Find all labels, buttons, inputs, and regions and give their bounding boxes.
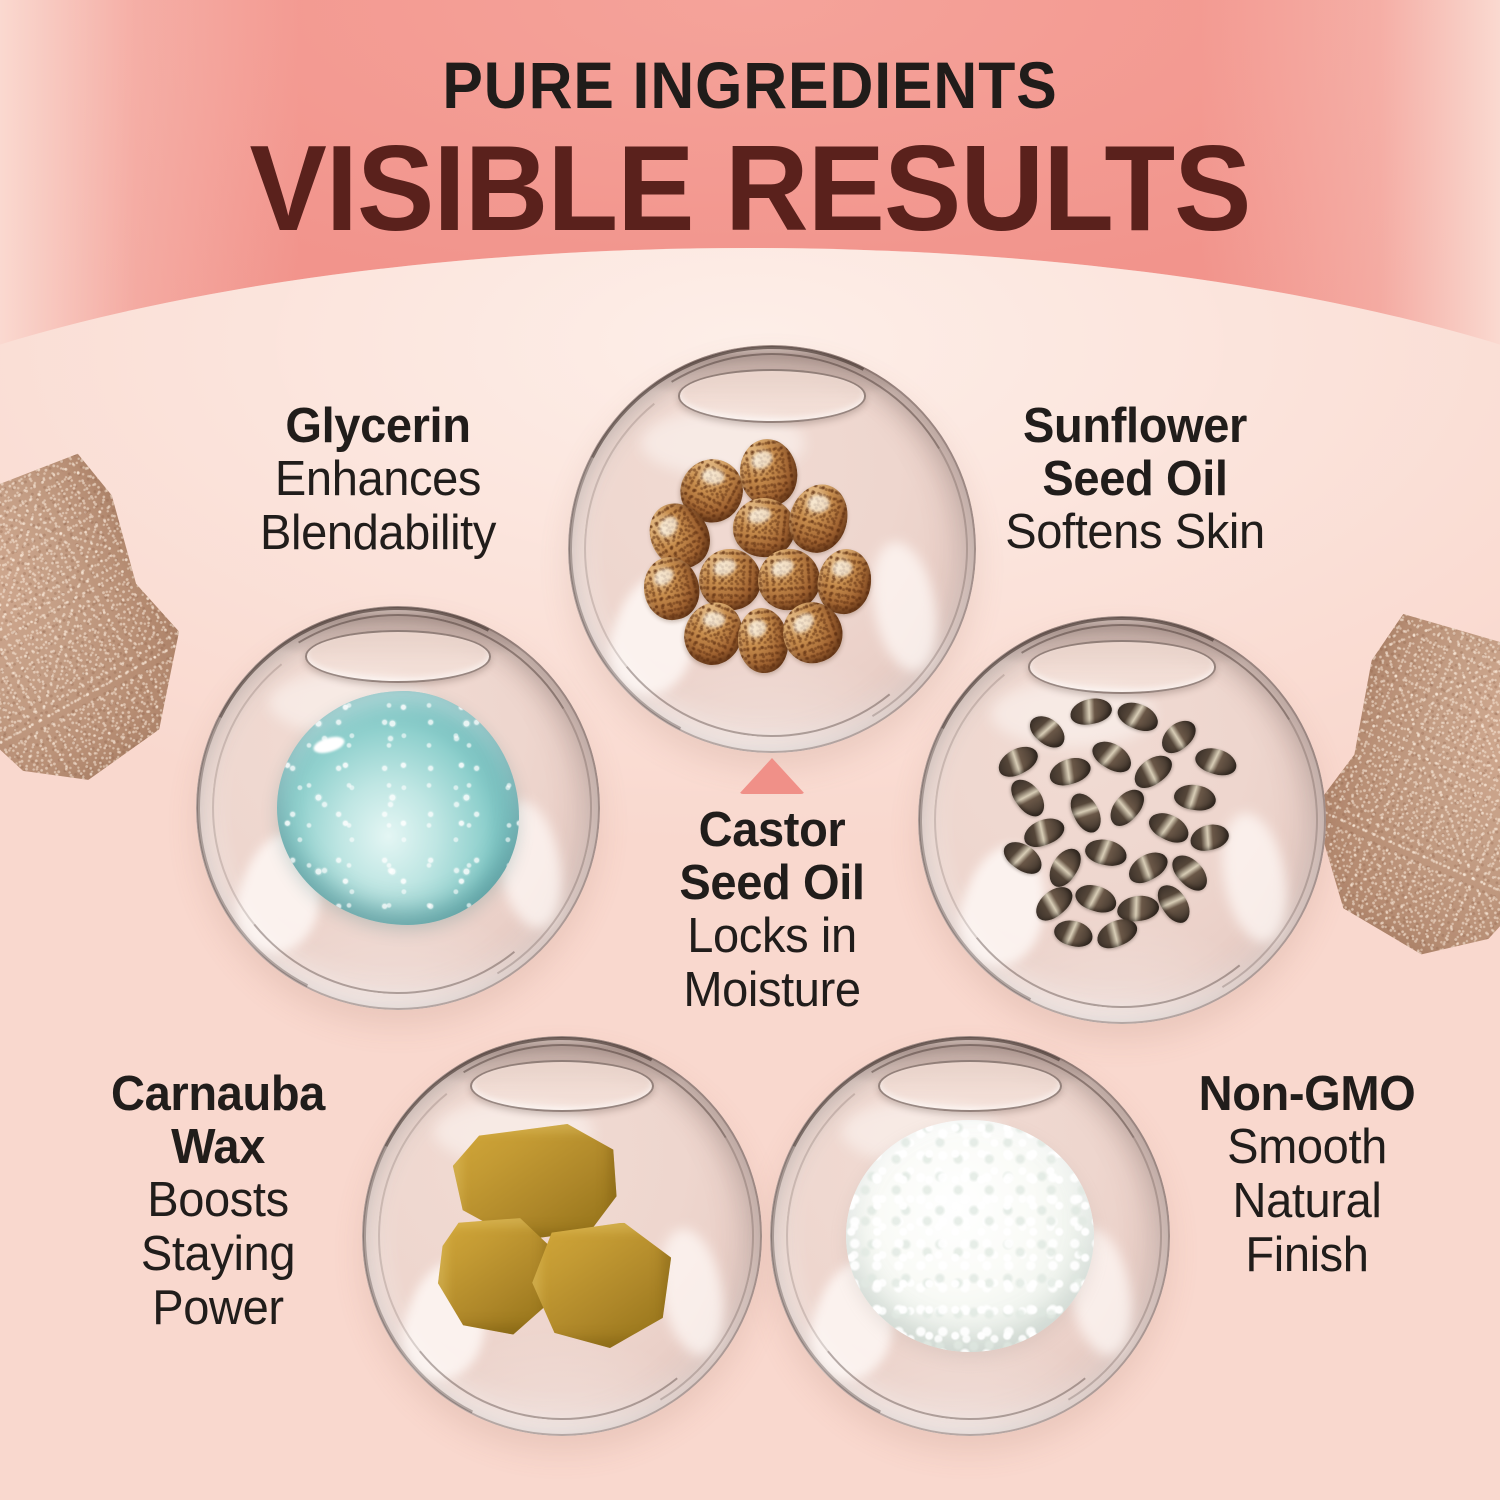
infographic-canvas: PURE INGREDIENTS VISIBLE RESULTS bbox=[0, 0, 1500, 1500]
label-title-non-gmo: Non-GMO bbox=[1129, 1068, 1484, 1121]
label-benefit-non-gmo-line1: Smooth bbox=[1129, 1121, 1484, 1175]
headline-eyebrow: PURE INGREDIENTS bbox=[60, 0, 1440, 118]
label-benefit-carnauba-line1: Boosts bbox=[45, 1174, 391, 1228]
label-title-sunflower-line2: Seed Oil bbox=[938, 453, 1332, 506]
orb-opening-carnauba bbox=[470, 1060, 654, 1112]
glass-orb-carnauba bbox=[362, 1036, 762, 1436]
triangle-up-icon bbox=[739, 758, 805, 794]
label-benefit-non-gmo-line2: Natural bbox=[1129, 1175, 1484, 1229]
label-title-glycerin: Glycerin bbox=[176, 400, 579, 453]
carnauba-wax-chunks bbox=[438, 1124, 686, 1348]
glass-orb-glycerin bbox=[196, 606, 600, 1010]
glass-orb-castor bbox=[568, 345, 976, 753]
label-benefit-sunflower-line1: Softens Skin bbox=[938, 506, 1332, 560]
orb-opening-castor bbox=[678, 369, 866, 422]
headline-main: VISIBLE RESULTS bbox=[38, 126, 1463, 250]
label-benefit-carnauba-line3: Power bbox=[45, 1282, 391, 1336]
glass-orb-sunflower bbox=[918, 616, 1326, 1024]
ingredient-sphere-castor-seed-oil bbox=[568, 345, 976, 753]
ingredient-label-castor-seed-oil: Castor Seed Oil Locks in Moisture bbox=[598, 758, 946, 1018]
glass-orb-non-gmo bbox=[770, 1036, 1170, 1436]
label-benefit-castor-line1: Locks in bbox=[605, 910, 939, 964]
orb-opening-sunflower bbox=[1028, 640, 1216, 693]
ingredient-label-non-gmo: Non-GMO Smooth Natural Finish bbox=[1122, 1068, 1492, 1283]
ingredient-sphere-sunflower-seed-oil bbox=[918, 616, 1326, 1024]
label-benefit-glycerin-line2: Blendability bbox=[176, 507, 579, 561]
label-title-sunflower-line1: Sunflower bbox=[938, 400, 1332, 453]
label-benefit-carnauba-line2: Staying bbox=[45, 1228, 391, 1282]
orb-opening-glycerin bbox=[305, 630, 491, 683]
ingredient-sphere-carnauba-wax bbox=[362, 1036, 762, 1436]
ingredient-label-glycerin: Glycerin Enhances Blendability bbox=[168, 400, 588, 561]
orb-opening-non-gmo bbox=[878, 1060, 1062, 1112]
ingredient-label-sunflower-seed-oil: Sunflower Seed Oil Softens Skin bbox=[930, 400, 1340, 560]
label-benefit-non-gmo-line3: Finish bbox=[1129, 1229, 1484, 1283]
label-title-carnauba-line2: Wax bbox=[45, 1121, 391, 1174]
label-title-castor-line1: Castor bbox=[605, 804, 939, 857]
ingredient-label-carnauba-wax: Carnauba Wax Boosts Staying Power bbox=[38, 1068, 398, 1335]
ingredient-sphere-glycerin bbox=[196, 606, 600, 1010]
header: PURE INGREDIENTS VISIBLE RESULTS bbox=[0, 0, 1500, 250]
label-benefit-castor-line2: Moisture bbox=[605, 964, 939, 1018]
glycerin-gel-blob bbox=[277, 691, 519, 925]
label-title-castor-line2: Seed Oil bbox=[605, 857, 939, 910]
sunflower-seed-pile bbox=[991, 694, 1252, 947]
white-powder-mound bbox=[846, 1120, 1094, 1352]
label-title-carnauba-line1: Carnauba bbox=[45, 1068, 391, 1121]
ingredient-sphere-non-gmo bbox=[770, 1036, 1170, 1436]
wax-chunk-right bbox=[532, 1223, 671, 1348]
label-benefit-glycerin-line1: Enhances bbox=[176, 453, 579, 507]
castor-bean-cluster bbox=[658, 447, 886, 651]
gel-specular-highlight bbox=[312, 734, 346, 756]
